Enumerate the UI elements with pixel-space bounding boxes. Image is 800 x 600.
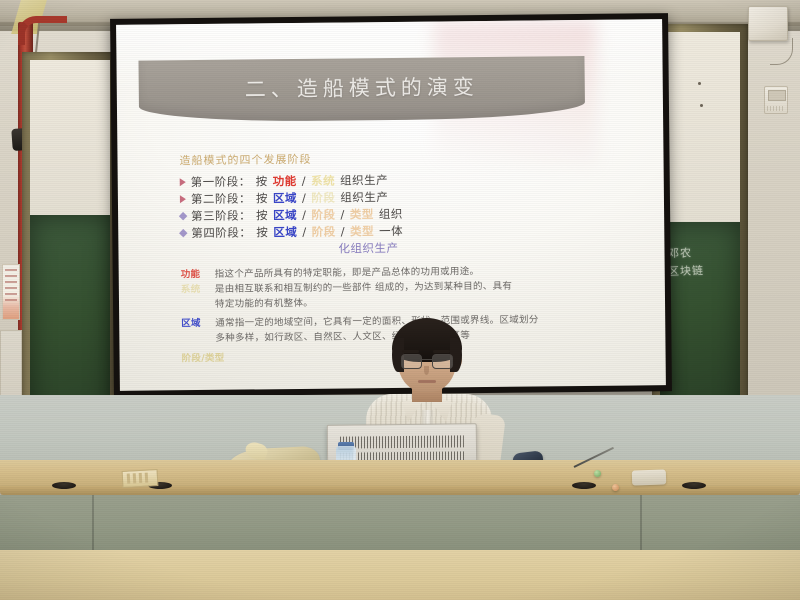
bullet-4-term-2: 阶段 [312, 224, 336, 240]
blackboard-right-chalk-line-1: 邓农 [668, 243, 743, 263]
bullet-2-term-1: 区域 [273, 190, 297, 206]
bullet-4-sep-1: / [302, 224, 307, 240]
bullet-2-sep-1: / [302, 190, 307, 206]
bullet-3-prefix: 按 [256, 207, 268, 223]
slide-bullet-continuation: 化组织生产 [338, 238, 610, 257]
definition-1-text: 指这个产品所具有的特定职能，即是产品总体的功用或用途。 [215, 265, 480, 282]
bullet-2-prefix: 按 [256, 190, 268, 206]
glasses-lens-right [432, 354, 453, 369]
podium-seam-left [92, 495, 94, 550]
nose [424, 366, 429, 375]
desk-front-lip [0, 486, 800, 495]
triangle-bullet-icon [180, 195, 186, 203]
bullet-2-term-2: 阶段 [311, 190, 335, 206]
bullet-3-term-1: 区域 [273, 207, 297, 223]
bullet-3-term-2: 阶段 [311, 207, 335, 223]
desk-top-surface [0, 460, 800, 488]
bullet-3-sep-2: / [340, 206, 345, 222]
slide-section-heading: 造船模式的四个发展阶段 [179, 148, 609, 169]
eyebrow-right [433, 350, 450, 353]
desk-grommet [52, 482, 76, 489]
blackboard-right-upper-white [660, 32, 740, 222]
definition-3-text: 特定功能的有机整体。 [215, 297, 313, 312]
definition-4-key: 区域 [181, 317, 215, 331]
marble-green [594, 470, 601, 477]
triangle-bullet-icon [180, 178, 186, 186]
wall-speaker [748, 6, 788, 41]
bullet-3-sep-1: / [302, 207, 307, 223]
podium-base [0, 550, 800, 600]
slide-title-band: 二、造船模式的演变 [138, 56, 585, 123]
classroom-photo: 邓农 区块链 二、造船模式的演变 造船模式的四个发展阶段 第一阶段： 按 [0, 0, 800, 600]
bullet-2-label: 第二阶段： [191, 190, 251, 207]
wall-nail-dot [700, 104, 703, 107]
desk-grommet [682, 482, 706, 489]
glasses-bridge [420, 359, 432, 360]
podium [0, 460, 800, 600]
podium-seam-right [640, 495, 642, 550]
bullet-1-prefix: 按 [256, 173, 268, 189]
bullet-4-sep-2: / [341, 223, 346, 239]
definition-1-key: 功能 [181, 268, 215, 282]
definition-6-key: 阶段/类型 [182, 352, 225, 366]
blackboard-left-chalk-text [38, 236, 112, 239]
light-switch-rocker[interactable] [768, 90, 786, 101]
pipe-elbow [18, 16, 67, 45]
bullet-4-term-1: 区域 [273, 224, 297, 240]
bullet-1-suffix: 组织生产 [340, 172, 388, 189]
bullet-4-term-3: 类型 [350, 223, 374, 239]
bullet-2-suffix: 组织生产 [340, 189, 388, 206]
bullet-1-term-2: 系统 [311, 173, 335, 189]
slide-title: 二、造船模式的演变 [139, 70, 585, 105]
blackboard-left-upper-white [30, 60, 110, 215]
chalk-box[interactable] [122, 469, 159, 488]
mouth [418, 380, 436, 383]
wall-nail-dot [698, 82, 701, 85]
bullet-1-label: 第一阶段： [191, 173, 251, 190]
bullet-3-term-3: 类型 [350, 206, 374, 222]
bullet-4-suffix: 一体 [379, 223, 403, 239]
blackboard-eraser[interactable] [632, 469, 667, 485]
eyebrow-left [402, 350, 419, 353]
definition-2-key: 系统 [181, 283, 215, 297]
wall-sticker [2, 264, 20, 320]
bullet-1-sep-1: / [302, 173, 307, 189]
diamond-bullet-icon [179, 212, 187, 220]
bullet-4-prefix: 按 [256, 224, 268, 240]
glasses-lens-left [401, 354, 422, 369]
light-switch[interactable] [764, 86, 788, 114]
diamond-bullet-icon [179, 229, 187, 237]
marble-orange [612, 484, 619, 491]
light-switch-label [767, 106, 785, 111]
bullet-3-label: 第三阶段： [191, 207, 251, 224]
bullet-3-suffix: 组织 [379, 206, 403, 222]
desk-grommet [572, 482, 596, 489]
laptop-vent-upper [340, 435, 464, 448]
blackboard-right-chalk-line-2: 区块链 [668, 261, 743, 281]
bullet-4-label: 第四阶段： [191, 224, 251, 241]
podium-front-panel [0, 495, 800, 550]
bullet-1-term-1: 功能 [273, 173, 297, 189]
